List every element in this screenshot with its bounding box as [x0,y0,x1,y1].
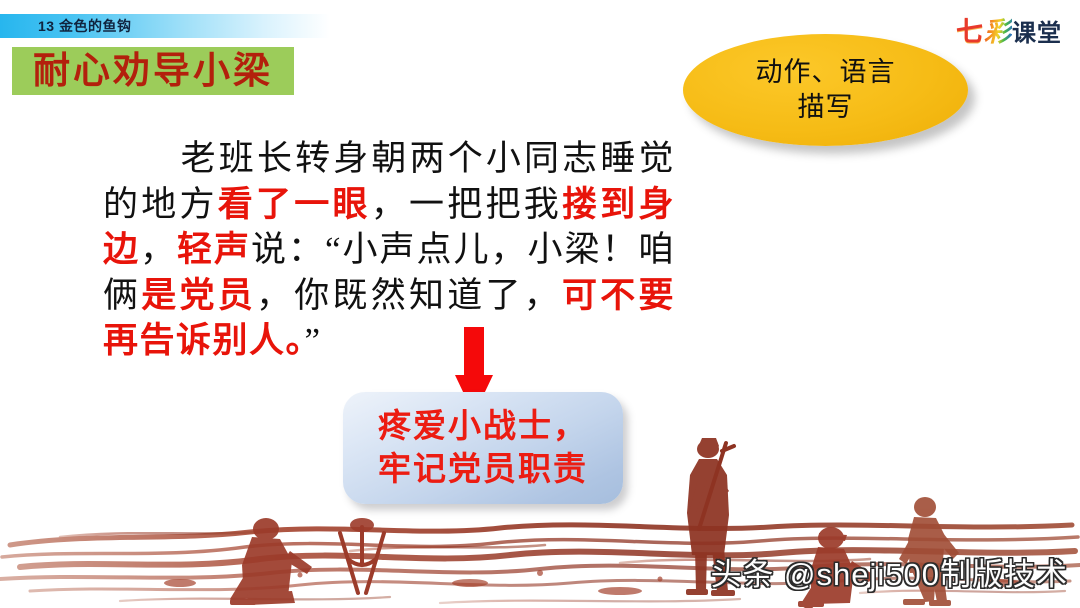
brand-logo-char-1: 七 [956,17,984,47]
callout-line-1: 动作、语言 [756,55,896,90]
brand-logo-char-3: 课堂 [1012,20,1062,47]
section-banner: 耐心劝导小梁 [12,47,294,95]
arrow-shaft [464,327,484,379]
body-segment: ，一把把我 [371,185,562,224]
body-segment: ，你既然知道了， [256,276,562,315]
section-banner-label: 耐心劝导小梁 [33,53,273,90]
body-segment: ” [305,321,322,360]
brand-logo: 七彩课堂 [956,10,1062,49]
slide-canvas: 13 金色的鱼钩 七彩课堂 耐心劝导小梁 动作、语言 描写 老班长转身朝两个小同… [0,0,1080,608]
conclusion-line-2: 牢记党员职责 [378,448,588,491]
brand-logo-char-2: 彩 [984,17,1012,47]
callout-ellipse: 动作、语言 描写 [683,34,968,146]
body-segment-highlight: 是党员 [141,276,256,315]
body-segment-highlight: 看了一眼 [218,185,371,224]
conclusion-box: 疼爱小战士， 牢记党员职责 [343,392,623,504]
page-title: 13 金色的鱼钩 [38,16,131,36]
body-segment-highlight: 轻声 [177,230,251,269]
watermark-text: 头条 @sheji500制版技术 [710,549,1068,594]
body-paragraph: 老班长转身朝两个小同志睡觉的地方看了一眼，一把把我搂到身边，轻声说：“小声点儿，… [103,136,675,364]
callout-line-2: 描写 [798,90,854,125]
conclusion-line-1: 疼爱小战士， [378,405,588,448]
body-segment: ， [140,230,177,269]
